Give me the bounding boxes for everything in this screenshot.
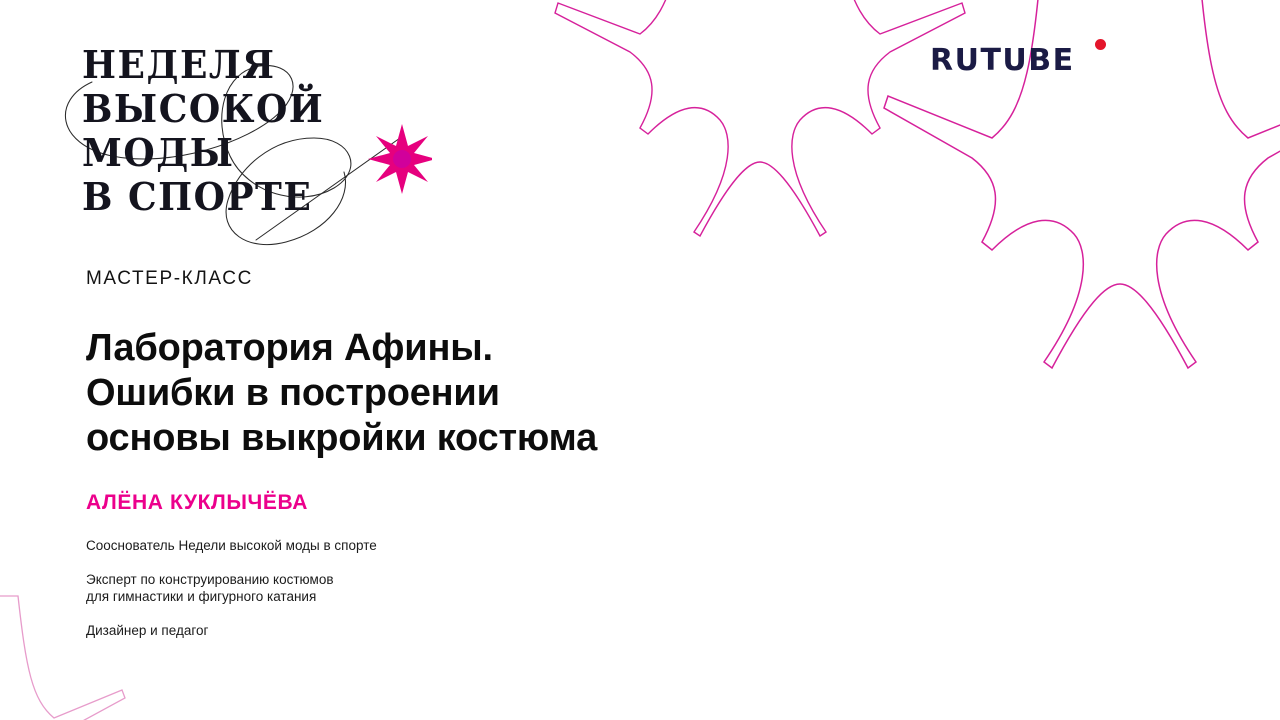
title-line-3: основы выкройки костюма (86, 416, 846, 461)
title-line-2: Ошибки в построении (86, 371, 846, 416)
credential-line: Дизайнер и педагог (86, 622, 846, 639)
slide-canvas: НЕДЕЛЯ ВЫСОКОЙ МОДЫ В СПОРТЕ RUTUBE МАСТ… (0, 0, 1280, 720)
title-line-1: Лаборатория Афины. (86, 326, 846, 371)
event-logotype: НЕДЕЛЯ ВЫСОКОЙ МОДЫ В СПОРТЕ (74, 28, 404, 238)
page-title: Лаборатория Афины. Ошибки в построении о… (86, 326, 846, 461)
logotype-lines: НЕДЕЛЯ ВЫСОКОЙ МОДЫ В СПОРТЕ (82, 42, 324, 218)
red-dot-icon (1095, 39, 1106, 50)
logotype-line-3: МОДЫ (82, 130, 324, 177)
sparkle-star-filled-icon (368, 124, 432, 194)
logotype-line-1: НЕДЕЛЯ (82, 42, 324, 89)
content-block: МАСТЕР-КЛАСС Лаборатория Афины. Ошибки в… (86, 268, 846, 639)
credential-line: для гимнастики и фигурного катания (86, 588, 846, 605)
rutube-logo[interactable]: RUTUBE (930, 44, 1110, 78)
kicker-label: МАСТЕР-КЛАСС (86, 268, 846, 290)
speaker-credential: Дизайнер и педагог (86, 622, 846, 639)
credential-line: Сооснователь Недели высокой моды в спорт… (86, 537, 846, 554)
speaker-credential: Сооснователь Недели высокой моды в спорт… (86, 537, 846, 554)
rutube-wordmark: RUTUBE (930, 44, 1110, 78)
logotype-line-4: В СПОРТЕ (82, 174, 324, 221)
speaker-credential: Эксперт по конструированию костюмов для … (86, 571, 846, 605)
credential-line: Эксперт по конструированию костюмов (86, 571, 846, 588)
logotype-line-2: ВЫСОКОЙ (82, 86, 324, 133)
speaker-name: АЛЁНА КУКЛЫЧЁВА (86, 491, 846, 515)
star-outline-top-left-icon (555, 0, 965, 236)
